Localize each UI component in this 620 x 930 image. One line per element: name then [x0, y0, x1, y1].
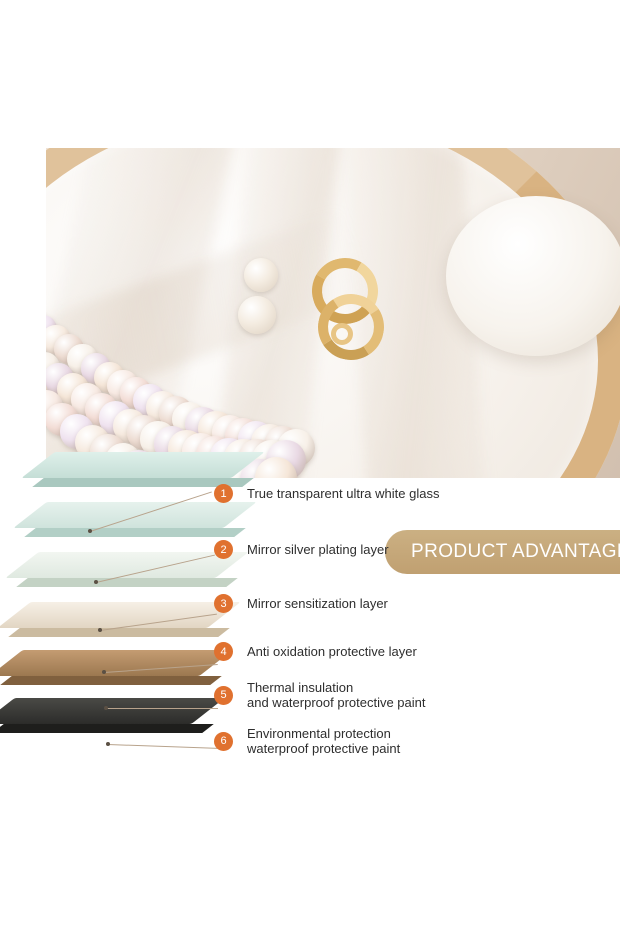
layer-slab-1: [21, 452, 264, 478]
layer-slab-6: [0, 698, 225, 724]
callout-item-1: 1 True transparent ultra white glass: [214, 484, 439, 503]
callout-number-3: 3: [214, 594, 233, 613]
layer-slab-edge-2: [24, 528, 246, 537]
callout-number-4: 4: [214, 642, 233, 661]
leader-dot-2: [94, 580, 98, 584]
leader-dot-3: [98, 628, 102, 632]
pearl-stud-earring: [238, 296, 276, 334]
callout-label-2: Mirror silver plating layer: [247, 542, 389, 557]
leader-dot-4: [102, 670, 106, 674]
gold-hoop-clasp: [331, 323, 353, 345]
callout-item-5: 5 Thermal insulation and waterproof prot…: [214, 680, 426, 710]
leader-dot-6: [106, 742, 110, 746]
layer-slab-edge-5: [0, 676, 222, 685]
callout-number-5: 5: [214, 686, 233, 705]
mirror-lifestyle-photo: [46, 148, 620, 478]
callout-number-2: 2: [214, 540, 233, 559]
leader-line-5: [106, 708, 218, 709]
leader-dot-1: [88, 529, 92, 533]
callout-label-4: Anti oxidation protective layer: [247, 644, 417, 659]
layer-slab-edge-3: [16, 578, 238, 587]
banner-label: PRODUCT ADVANTAGES: [411, 541, 620, 563]
callout-number-1: 1: [214, 484, 233, 503]
callout-item-3: 3 Mirror sensitization layer: [214, 594, 388, 613]
white-cushion: [446, 196, 620, 356]
leader-dot-5: [104, 706, 108, 710]
callout-label-6: Environmental protection waterproof prot…: [247, 726, 400, 756]
callout-label-3: Mirror sensitization layer: [247, 596, 388, 611]
callout-item-6: 6 Environmental protection waterproof pr…: [214, 726, 400, 756]
callout-item-2: 2 Mirror silver plating layer: [214, 540, 389, 559]
callout-label-1: True transparent ultra white glass: [247, 486, 439, 501]
layer-slab-2: [13, 502, 256, 528]
pearl-stud-earring: [244, 258, 278, 292]
callout-label-5: Thermal insulation and waterproof protec…: [247, 680, 426, 710]
callout-item-4: 4 Anti oxidation protective layer: [214, 642, 417, 661]
layer-slab-edge-6: [0, 724, 214, 733]
product-advantages-banner: PRODUCT ADVANTAGES: [385, 530, 620, 574]
layer-slab-edge-4: [8, 628, 230, 637]
exploded-layer-stack: [0, 440, 240, 760]
infographic-page: PRODUCT ADVANTAGES 1 True transparent ul…: [0, 0, 620, 930]
callout-number-6: 6: [214, 732, 233, 751]
